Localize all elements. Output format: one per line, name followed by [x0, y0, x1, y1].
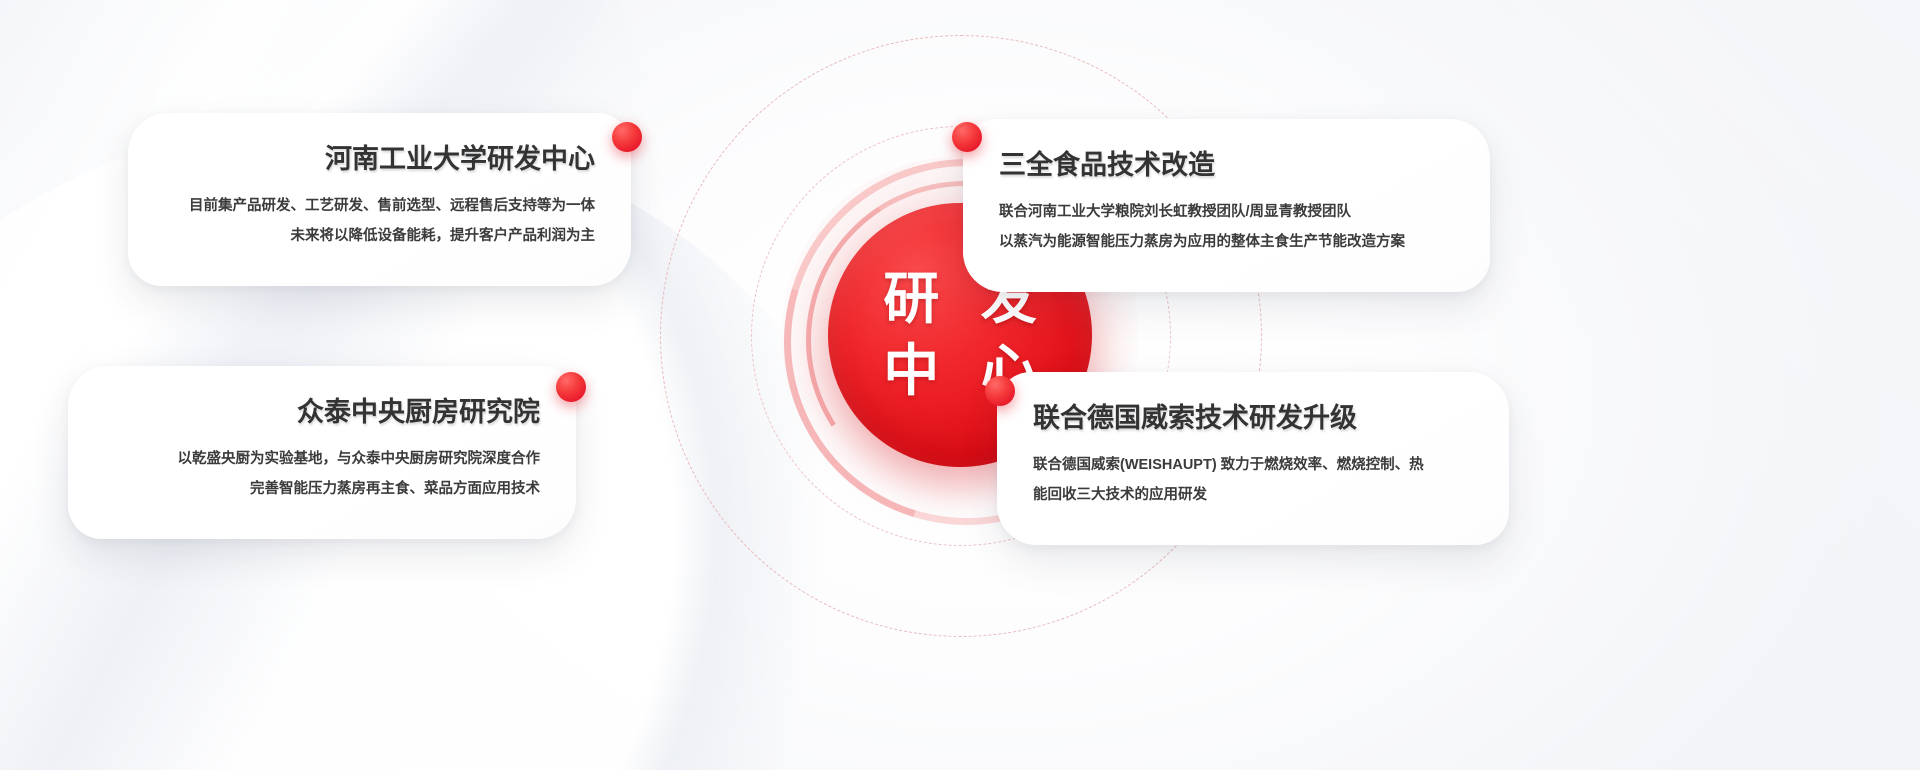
- info-card-weishaupt-joint-rd-upgrade[interactable]: 联合德国威索技术研发升级 联合德国威索(WEISHAUPT) 致力于燃烧效率、燃…: [997, 372, 1509, 545]
- card-body: 目前集产品研发、工艺研发、售前选型、远程售后支持等为一体 未来将以降低设备能耗，…: [164, 192, 595, 251]
- card-body-line: 完善智能压力蒸房再主食、菜品方面应用技术: [104, 475, 540, 505]
- card-marker-dot-icon: [556, 372, 586, 402]
- card-body-line: 以蒸汽为能源智能压力蒸房为应用的整体主食生产节能改造方案: [999, 228, 1454, 258]
- card-body-line: 能回收三大技术的应用研发: [1033, 481, 1473, 511]
- card-body: 以乾盛央厨为实验基地，与众泰中央厨房研究院深度合作 完善智能压力蒸房再主食、菜品…: [104, 445, 540, 504]
- background-swoosh-top-left: [0, 0, 660, 700]
- card-body-line: 以乾盛央厨为实验基地，与众泰中央厨房研究院深度合作: [104, 445, 540, 475]
- card-title: 河南工业大学研发中心: [164, 143, 595, 175]
- info-card-zhongtai-central-kitchen-institute[interactable]: 众泰中央厨房研究院 以乾盛央厨为实验基地，与众泰中央厨房研究院深度合作 完善智能…: [68, 366, 576, 539]
- card-body-line: 未来将以降低设备能耗，提升客户产品利润为主: [164, 222, 595, 252]
- card-marker-dot-icon: [612, 122, 642, 152]
- info-card-henan-university-rd-center[interactable]: 河南工业大学研发中心 目前集产品研发、工艺研发、售前选型、远程售后支持等为一体 …: [128, 113, 631, 286]
- card-title: 三全食品技术改造: [999, 149, 1454, 181]
- card-body: 联合德国威索(WEISHAUPT) 致力于燃烧效率、燃烧控制、热 能回收三大技术…: [1033, 451, 1473, 510]
- card-body: 联合河南工业大学粮院刘长虹教授团队/周显青教授团队 以蒸汽为能源智能压力蒸房为应…: [999, 198, 1454, 257]
- card-title: 众泰中央厨房研究院: [104, 396, 540, 428]
- info-card-sanquan-food-technical-upgrade[interactable]: 三全食品技术改造 联合河南工业大学粮院刘长虹教授团队/周显青教授团队 以蒸汽为能…: [963, 119, 1490, 292]
- card-body-line: 目前集产品研发、工艺研发、售前选型、远程售后支持等为一体: [164, 192, 595, 222]
- rd-center-infographic: 研 发 中 心 河南工业大学研发中心 目前集产品研发、工艺研发、售前选型、远程售…: [0, 0, 1920, 770]
- card-title: 联合德国威索技术研发升级: [1033, 402, 1473, 434]
- card-body-line: 联合河南工业大学粮院刘长虹教授团队/周显青教授团队: [999, 198, 1454, 228]
- background-swoosh-top-right: [1240, 0, 1920, 740]
- card-marker-dot-icon: [985, 376, 1015, 406]
- card-body-line: 联合德国威索(WEISHAUPT) 致力于燃烧效率、燃烧控制、热: [1033, 451, 1473, 481]
- card-marker-dot-icon: [952, 122, 982, 152]
